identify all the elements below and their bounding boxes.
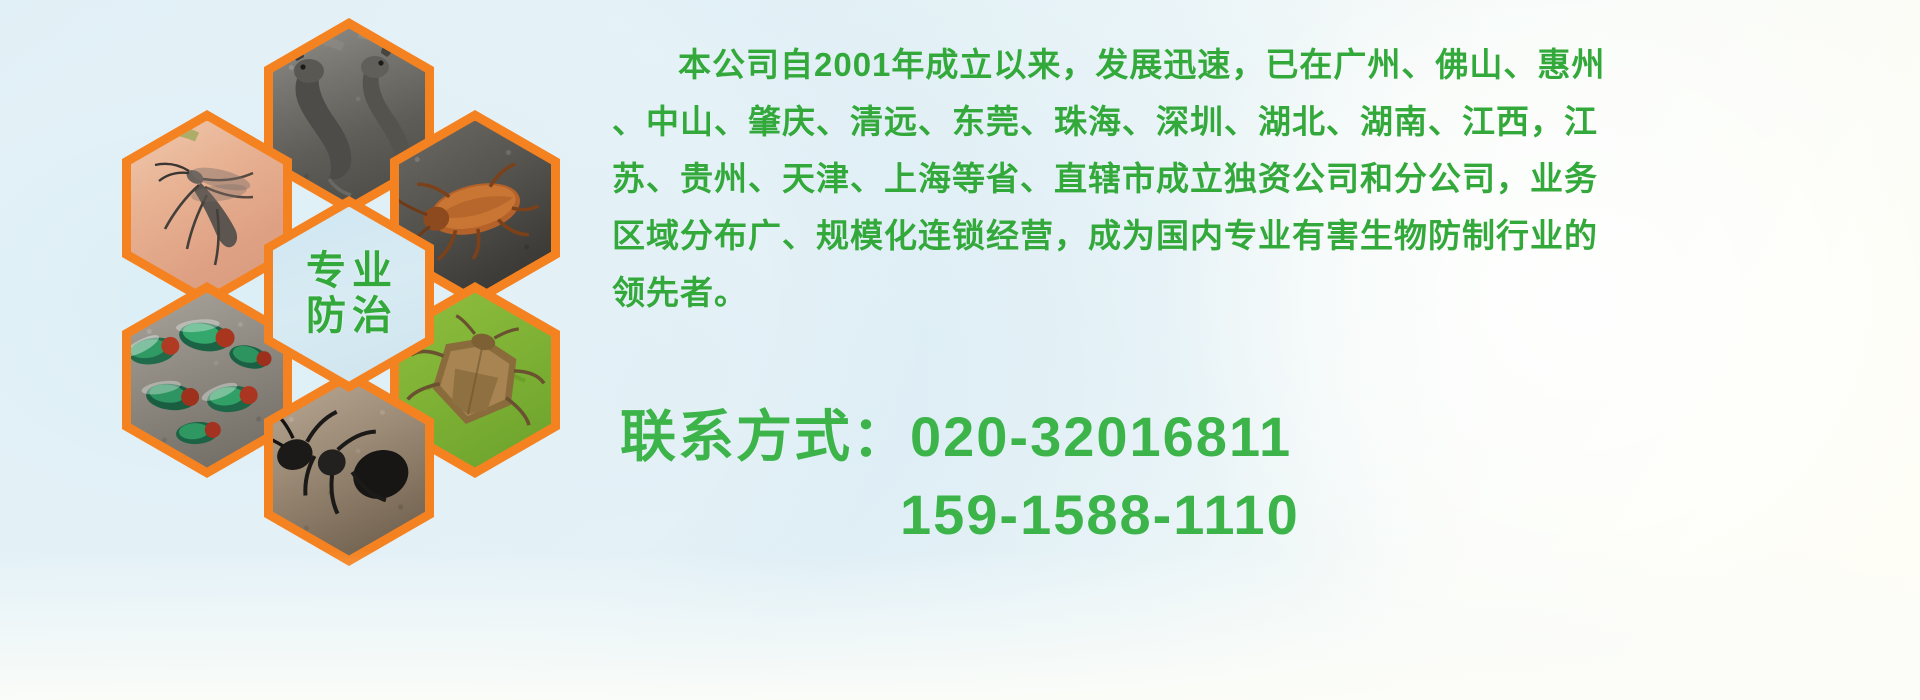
ant-icon [273, 381, 416, 536]
flies-icon [131, 311, 273, 445]
description-line-5: 领先者。 [612, 264, 1912, 321]
contact-block: 联系方式：020-32016811 159-1588-1110 [620, 398, 1920, 554]
honeycomb-image-cluster: 专业 防治 [0, 0, 620, 580]
description-line-3: 苏、贵州、天津、上海等省、直辖市成立独资公司和分公司，业务 [612, 150, 1912, 207]
contact-phone-primary[interactable]: 联系方式：020-32016811 [620, 398, 1920, 476]
description-line-4: 区域分布广、规模化连锁经营，成为国内专业有害生物防制行业的 [612, 207, 1912, 264]
company-description: 本公司自2001年成立以来，发展迅速，已在广州、佛山、惠州 、中山、肇庆、清远、… [612, 36, 1912, 321]
contact-phone-secondary[interactable]: 159-1588-1110 [620, 476, 1920, 554]
badge-line-1: 专业 [300, 249, 398, 294]
banner-canvas: 专业 防治 本公司自2001年成立以来，发展迅速，已在广州、佛山、惠州 、中山、… [0, 0, 1920, 700]
mosquito-icon [153, 129, 253, 264]
description-line-1: 本公司自2001年成立以来，发展迅速，已在广州、佛山、惠州 [612, 36, 1912, 93]
description-line-2: 、中山、肇庆、清远、东莞、珠海、深圳、湖北、湖南、江西，江 [612, 93, 1912, 150]
badge-line-2: 防治 [300, 294, 398, 339]
